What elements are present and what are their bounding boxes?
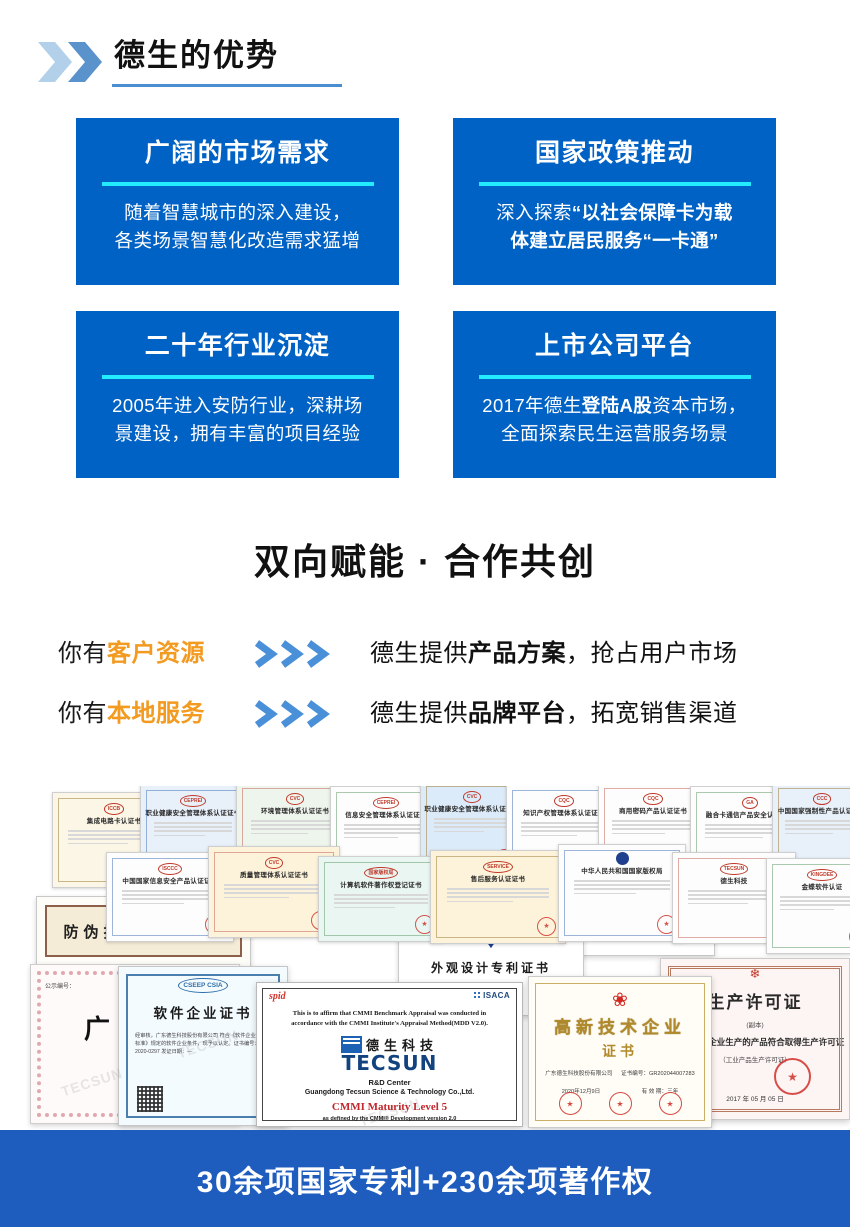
spid-logo-icon: spid: [269, 991, 286, 1002]
card-divider: [479, 182, 751, 186]
synergy-right-suffix: ，拓宽销售渠道: [566, 700, 738, 727]
chevron-right-icon: [68, 42, 102, 82]
section-header: 德生的优势: [0, 32, 850, 94]
card-body: 深入探索“以社会保障卡为载 体建立居民服务“一卡通”: [469, 199, 760, 255]
certificate-content: This is to affirm that CMMI Benchmark Ap…: [265, 989, 514, 1127]
advantage-card: 二十年行业沉淀 2005年进入安防行业，深耕场 景建设，拥有丰富的项目经验: [76, 311, 399, 478]
rd-center-label: R&D Center: [271, 1078, 508, 1087]
card-body-emphasis: 登陆A股: [582, 395, 652, 416]
certificate-thumbnail: 国家版权局计算机软件著作权登记证书: [318, 856, 444, 942]
certificate-thumbnail: KINGDEE金蝶软件认证: [766, 858, 850, 954]
isaca-logo-icon: ISACA: [473, 991, 510, 1000]
triple-chevron-right-icon: [253, 698, 337, 730]
synergy-left-highlight: 客户资源: [107, 640, 205, 667]
synergy-right-text: 德生提供产品方案，抢占用户市场: [370, 634, 738, 674]
synergy-left-prefix: 你有: [58, 700, 107, 727]
synergy-right-suffix: ，抢占用户市场: [566, 640, 738, 667]
page-title: 德生的优势: [114, 34, 279, 78]
isaca-label: ISACA: [483, 991, 510, 1000]
banner-text: 30余项国家专利+230余项著作权: [197, 1157, 653, 1201]
card-body-line: 景建设，拥有丰富的项目经验: [92, 420, 383, 448]
company-name: Guangdong Tecsun Science & Technology Co…: [271, 1089, 508, 1096]
synergy-right-prefix: 德生提供: [370, 640, 468, 667]
official-seal-icon: [537, 917, 556, 936]
tecsun-logo-icon: [341, 1036, 362, 1053]
synergy-right-prefix: 德生提供: [370, 700, 468, 727]
certificate-frame: [772, 864, 850, 948]
card-title: 国家政策推动: [469, 136, 760, 170]
cmmi-level: CMMI Maturity Level 5: [271, 1101, 508, 1113]
card-body-text: 2017年德生: [482, 395, 581, 416]
synergy-right-text: 德生提供品牌平台，拓宽销售渠道: [370, 694, 738, 734]
card-divider: [102, 375, 374, 379]
advantage-cards-grid: 广阔的市场需求 随着智慧城市的深入建设， 各类场景智慧化改造需求猛增 国家政策推…: [76, 118, 776, 478]
card-body-line: 各类场景智慧化改造需求猛增: [92, 227, 383, 255]
card-body-emphasis: “以社会保障卡为载: [572, 202, 733, 223]
advantage-card: 广阔的市场需求 随着智慧城市的深入建设， 各类场景智慧化改造需求猛增: [76, 118, 399, 285]
synergy-row: 你有客户资源 德生提供产品方案，抢占用户市场: [0, 634, 850, 674]
affirmation-line: This is to affirm that CMMI Benchmark Ap…: [277, 1009, 502, 1019]
official-seal-icon: [609, 1092, 632, 1115]
card-divider: [102, 182, 374, 186]
card-body-text: 深入探索: [496, 202, 572, 223]
certificate-title: 外观设计专利证书: [399, 959, 583, 976]
card-body: 2017年德生登陆A股资本市场， 全面探索民生运营服务场景: [469, 392, 760, 448]
card-body-line: 全面探索民生运营服务场景: [469, 420, 760, 448]
card-body-line: 深入探索“以社会保障卡为载: [469, 199, 760, 227]
card-body-line: 2017年德生登陆A股资本市场，: [469, 392, 760, 420]
triple-chevron-right-icon: [253, 638, 337, 670]
certificate-affirmation: This is to affirm that CMMI Benchmark Ap…: [271, 1009, 508, 1028]
synergy-left-text: 你有客户资源: [58, 634, 205, 674]
synergy-heading: 双向赋能 · 合作共创: [0, 538, 850, 586]
advantage-card: 上市公司平台 2017年德生登陆A股资本市场， 全面探索民生运营服务场景: [453, 311, 776, 478]
card-body-line: 2005年进入安防行业，深耕场: [92, 392, 383, 420]
official-seal-icon: [559, 1092, 582, 1115]
qr-code-icon: [137, 1086, 163, 1112]
certificate-collage: ICCB集成电路卡认证书CEPREI职业健康安全管理体系认证证书CVC环境管理体…: [0, 786, 850, 1130]
advantage-card: 国家政策推动 深入探索“以社会保障卡为载 体建立居民服务“一卡通”: [453, 118, 776, 285]
synergy-left-highlight: 本地服务: [107, 700, 205, 727]
card-title: 上市公司平台: [469, 329, 760, 363]
chevron-right-icon: [38, 42, 72, 82]
seal-group: [529, 1092, 711, 1115]
card-title: 二十年行业沉淀: [92, 329, 383, 363]
card-body-line: 随着智慧城市的深入建设，: [92, 199, 383, 227]
certificate-note: 公示编号：: [45, 981, 75, 990]
card-body: 2005年进入安防行业，深耕场 景建设，拥有丰富的项目经验: [92, 392, 383, 448]
card-body-line: 体建立居民服务“一卡通”: [469, 227, 760, 255]
official-seal-icon: [659, 1092, 682, 1115]
card-body-emphasis: 体建立居民服务“一卡通”: [510, 230, 718, 251]
certificate-cmmi: spid ISACA This is to affirm that CMMI B…: [256, 982, 523, 1127]
synergy-row: 你有本地服务 德生提供品牌平台，拓宽销售渠道: [0, 694, 850, 734]
certificate-thumbnail: 中华人民共和国国家版权局: [558, 844, 686, 942]
synergy-left-prefix: 你有: [58, 640, 107, 667]
certificate-thumbnail: SERVICE售后服务认证证书: [430, 850, 566, 944]
card-body-text: 资本市场，: [652, 395, 747, 416]
official-seal-icon: [774, 1058, 811, 1095]
brand-name-en: TECSUN: [271, 1051, 508, 1075]
header-underline: [112, 84, 342, 87]
isaca-dots-icon: [473, 991, 481, 999]
synergy-left-text: 你有本地服务: [58, 694, 205, 734]
certificate-hitech-enterprise: ❀ 高新技术企业 证书 广东德生科技股份有限公司 证书编号：GR20204400…: [528, 976, 712, 1128]
card-title: 广阔的市场需求: [92, 136, 383, 170]
card-body: 随着智慧城市的深入建设， 各类场景智慧化改造需求猛增: [92, 199, 383, 255]
header-chevron-group: [38, 42, 106, 82]
card-divider: [479, 375, 751, 379]
synergy-right-bold: 产品方案: [468, 640, 566, 667]
synergy-right-bold: 品牌平台: [468, 700, 566, 727]
cmmi-defined-note: as defined by the CMMI® Development vers…: [271, 1116, 508, 1122]
bottom-banner: 30余项国家专利+230余项著作权: [0, 1130, 850, 1227]
affirmation-line: accordance with the CMMI Institute's App…: [277, 1019, 502, 1029]
